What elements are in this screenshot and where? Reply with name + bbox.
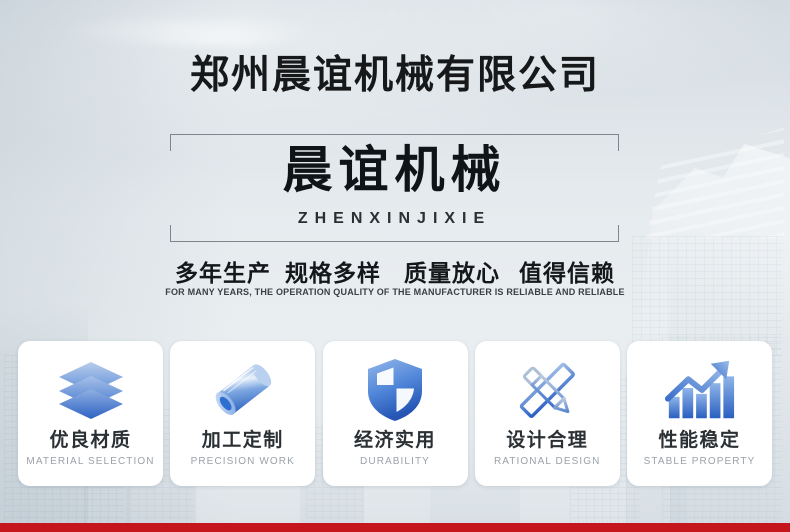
growth-chart-icon bbox=[663, 355, 737, 425]
feature-card-material-selection[interactable]: 优良材质 MATERIAL SELECTION bbox=[18, 341, 163, 486]
feature-title-chinese: 性能稳定 bbox=[658, 431, 740, 452]
feature-title-english: MATERIAL SELECTION bbox=[26, 456, 154, 467]
feature-title-chinese: 设计合理 bbox=[506, 431, 588, 452]
feature-title-english: DURABILITY bbox=[360, 456, 430, 467]
tagline-segment: 质量放心 bbox=[404, 260, 500, 286]
accent-bar bbox=[0, 523, 790, 532]
feature-title-chinese: 经济实用 bbox=[354, 431, 436, 452]
frame-bottom-line bbox=[170, 241, 619, 242]
brand-name-chinese: 晨谊机械 bbox=[170, 142, 619, 198]
tagline-segment: 规格多样 bbox=[285, 260, 381, 286]
feature-card-list: 优良材质 MATERIAL SELECTION bbox=[18, 341, 772, 486]
layers-icon bbox=[54, 355, 128, 425]
company-name: 郑州晨谊机械有限公司 bbox=[0, 56, 790, 95]
feature-title-chinese: 优良材质 bbox=[49, 431, 131, 452]
feature-card-durability[interactable]: 经济实用 DURABILITY bbox=[323, 341, 468, 486]
promo-banner: 郑州晨谊机械有限公司 晨谊机械 ZHENXINJIXIE 多年生产规格多样质量放… bbox=[0, 0, 790, 532]
shield-icon bbox=[358, 355, 432, 425]
feature-title-english: STABLE PROPERTY bbox=[644, 456, 756, 467]
feature-title-english: PRECISION WORK bbox=[191, 456, 295, 467]
feature-title-english: RATIONAL DESIGN bbox=[494, 456, 601, 467]
frame-top-line bbox=[170, 134, 619, 135]
feature-card-precision-work[interactable]: 加工定制 PRECISION WORK bbox=[170, 341, 315, 486]
feature-title-chinese: 加工定制 bbox=[202, 431, 284, 452]
tagline-segment: 多年生产 bbox=[175, 260, 271, 286]
tagline-english: FOR MANY YEARS, THE OPERATION QUALITY OF… bbox=[0, 287, 790, 297]
tagline-segment: 值得信赖 bbox=[519, 260, 615, 286]
brand-name-pinyin: ZHENXINJIXIE bbox=[170, 210, 619, 228]
feature-card-rational-design[interactable]: 设计合理 RATIONAL DESIGN bbox=[475, 341, 620, 486]
brand-frame: 晨谊机械 ZHENXINJIXIE bbox=[170, 134, 619, 242]
tagline-chinese: 多年生产规格多样质量放心值得信赖 bbox=[0, 254, 790, 288]
pipe-icon bbox=[206, 355, 280, 425]
ruler-pencil-icon bbox=[510, 355, 584, 425]
feature-card-stable-property[interactable]: 性能稳定 STABLE PROPERTY bbox=[627, 341, 772, 486]
